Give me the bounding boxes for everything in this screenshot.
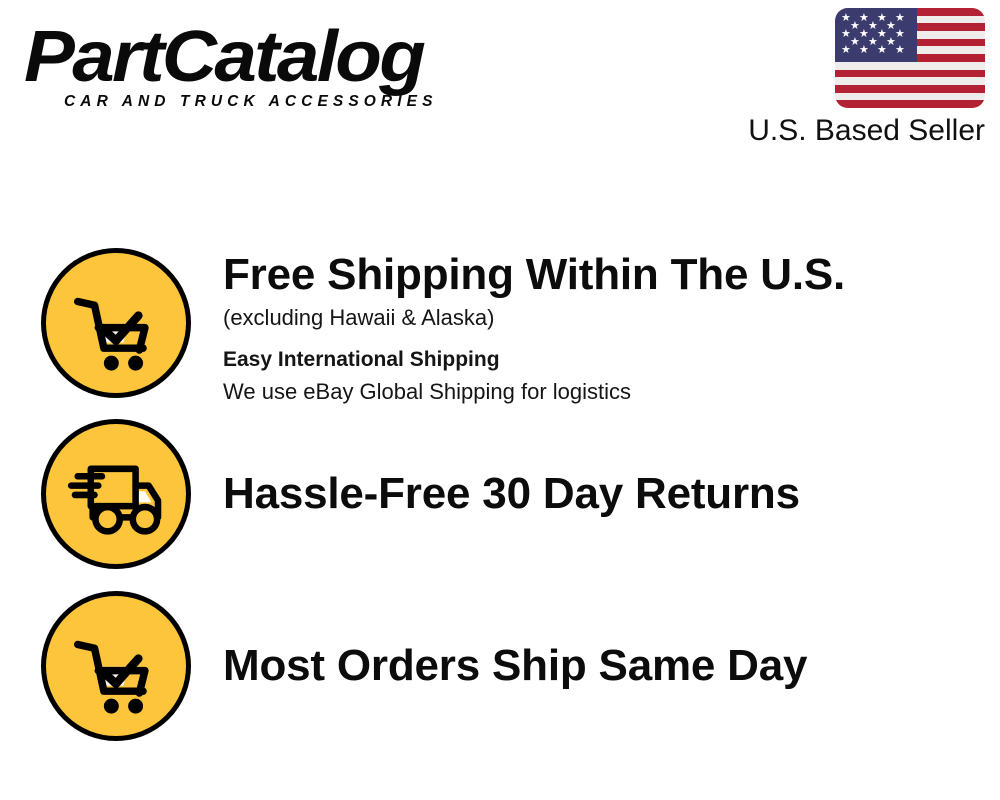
feature-row: Hassle-Free 30 Day Returns bbox=[0, 419, 1000, 569]
feature-title: Hassle-Free 30 Day Returns bbox=[223, 469, 800, 519]
feature-title: Free Shipping Within The U.S. bbox=[223, 250, 845, 300]
feature-text: Hassle-Free 30 Day Returns bbox=[223, 419, 800, 569]
brand-logo[interactable]: PartCatalog CAR AND TRUCK ACCESSORIES bbox=[24, 22, 494, 111]
logo-wordmark: PartCatalog bbox=[24, 22, 522, 92]
feature-title: Most Orders Ship Same Day bbox=[223, 641, 807, 691]
shopping-cart-check-icon bbox=[41, 248, 191, 398]
feature-row: Free Shipping Within The U.S. (excluding… bbox=[0, 248, 1000, 407]
feature-text: Free Shipping Within The U.S. (excluding… bbox=[223, 248, 845, 407]
feature-sub-note: We use eBay Global Shipping for logistic… bbox=[223, 377, 845, 407]
delivery-truck-icon bbox=[41, 419, 191, 569]
feature-paren-note: (excluding Hawaii & Alaska) bbox=[223, 303, 845, 333]
feature-text: Most Orders Ship Same Day bbox=[223, 591, 807, 741]
feature-sub-heading: Easy International Shipping bbox=[223, 345, 845, 375]
feature-row: Most Orders Ship Same Day bbox=[0, 591, 1000, 741]
us-flag-icon: ★ ★ ★ ★ ★ ★ ★ ★ ★ ★ ★ ★ ★ ★ ★ ★ ★ ★ bbox=[835, 8, 985, 108]
seller-badge: ★ ★ ★ ★ ★ ★ ★ ★ ★ ★ ★ ★ ★ ★ ★ ★ ★ ★ U.S.… bbox=[748, 8, 985, 148]
page-header: PartCatalog CAR AND TRUCK ACCESSORIES ★ … bbox=[0, 0, 1000, 175]
shopping-cart-check-icon bbox=[41, 591, 191, 741]
seller-badge-label: U.S. Based Seller bbox=[748, 114, 985, 148]
